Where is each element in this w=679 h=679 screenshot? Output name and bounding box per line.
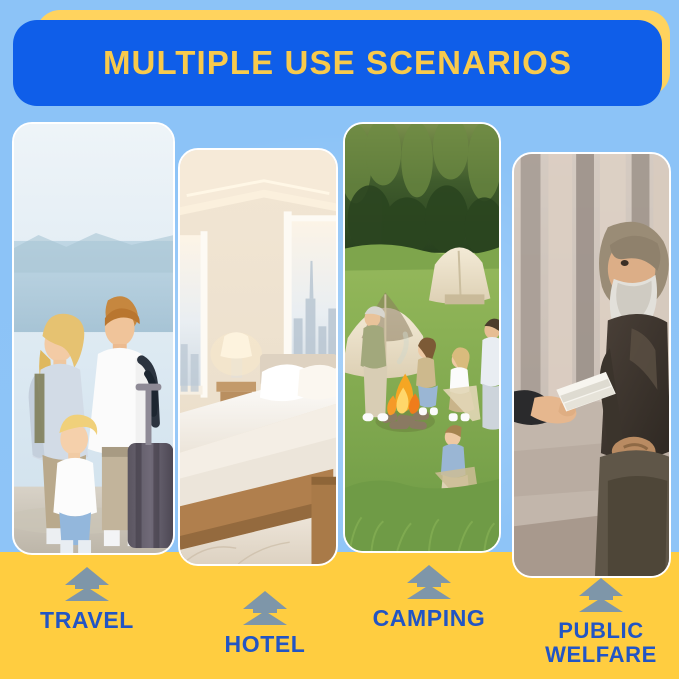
double-chevron-up-icon <box>577 578 625 614</box>
double-chevron-up-icon <box>63 567 111 603</box>
scenario-tag-travel: TRAVEL <box>2 567 172 633</box>
camping-photo <box>345 124 499 551</box>
scenario-card-welfare[interactable] <box>512 152 671 578</box>
scenario-label-camping: CAMPING <box>373 606 486 631</box>
travel-photo <box>14 124 173 553</box>
scenario-tag-hotel: HOTEL <box>180 591 350 657</box>
welfare-photo <box>514 154 669 576</box>
poster-root: MULTIPLE USE SCENARIOS <box>0 0 679 679</box>
scenario-tag-welfare: PUBLIC WELFARE <box>516 578 679 667</box>
scenario-card-hotel[interactable] <box>178 148 338 566</box>
scenario-card-travel[interactable] <box>12 122 175 555</box>
scenario-label-welfare: PUBLIC WELFARE <box>545 619 657 667</box>
page-title: MULTIPLE USE SCENARIOS <box>103 44 572 82</box>
hotel-photo <box>180 150 336 564</box>
double-chevron-up-icon <box>405 565 453 601</box>
scenario-card-camping[interactable] <box>343 122 501 553</box>
scenario-label-hotel: HOTEL <box>225 632 306 657</box>
scenario-label-travel: TRAVEL <box>40 608 134 633</box>
double-chevron-up-icon <box>241 591 289 627</box>
scenario-tag-camping: CAMPING <box>344 565 514 631</box>
header-banner: MULTIPLE USE SCENARIOS <box>13 20 662 106</box>
